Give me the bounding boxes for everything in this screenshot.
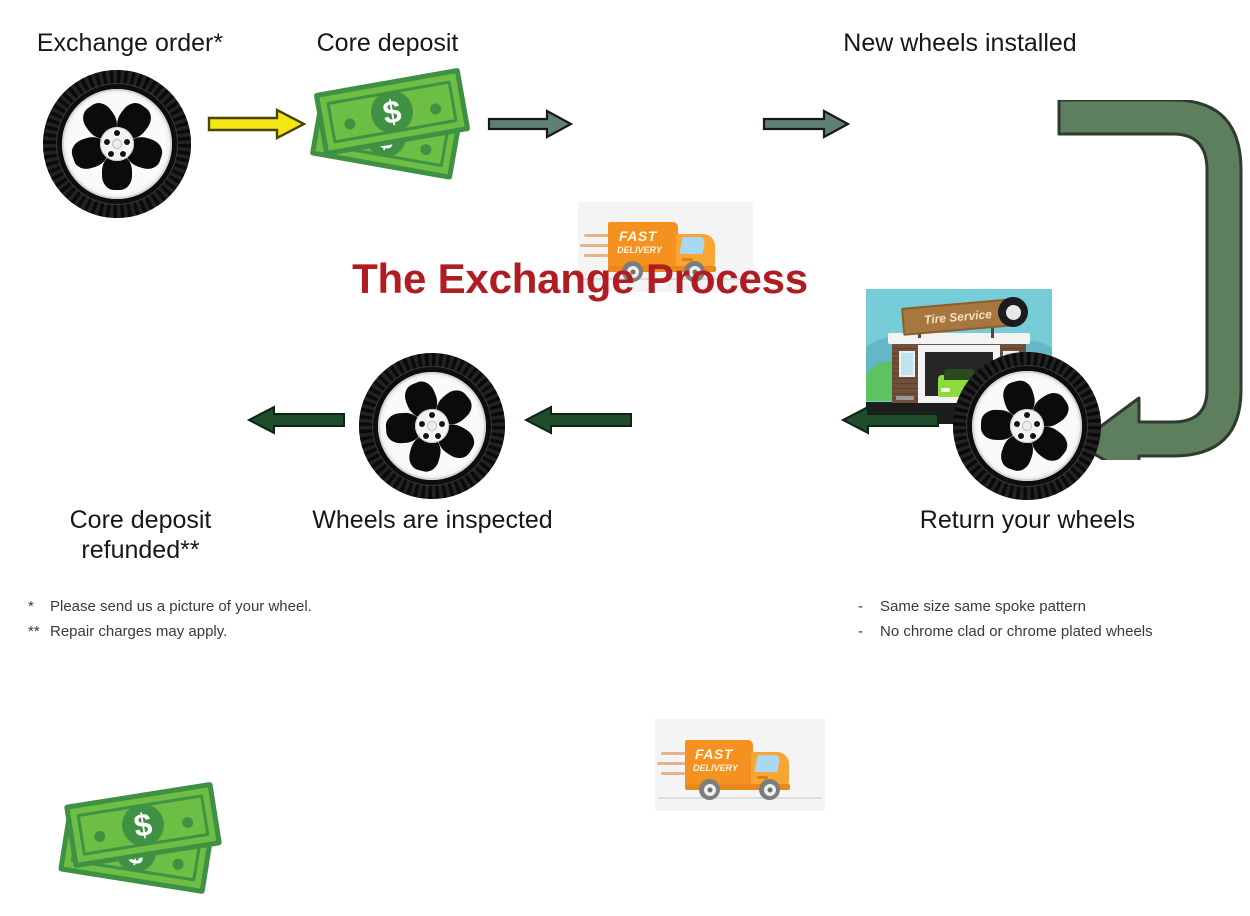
footnotes-left: *Please send us a picture of your wheel.… [28, 594, 312, 644]
label-new-wheels-installed: New wheels installed [805, 28, 1115, 58]
label-wheels-are-inspected: Wheels are inspected [290, 505, 575, 535]
label-core-deposit: Core deposit [285, 28, 490, 58]
footnote-left-1: *Please send us a picture of your wheel. [28, 594, 312, 619]
footnote-left-2: **Repair charges may apply. [28, 619, 312, 644]
footnote-mark: - [858, 619, 880, 644]
wheel-icon-return-your-wheels [953, 352, 1101, 500]
exchange-process-diagram: Exchange order* Core deposit New wheels … [0, 0, 1250, 666]
wheel-icon-exchange-order [43, 70, 191, 218]
footnotes-right: -Same size same spoke pattern -No chrome… [858, 594, 1153, 644]
arrow-inspection-to-refund [246, 405, 346, 435]
label-core-deposit-refunded-line2: refunded** [28, 535, 253, 565]
money-icon-core-deposit-refunded: $ $ [58, 791, 233, 916]
label-return-your-wheels: Return your wheels [880, 505, 1175, 535]
footnote-text: Same size same spoke pattern [880, 598, 1086, 615]
garage-sign-text: Tire Service [924, 307, 993, 327]
page-title: The Exchange Process [325, 255, 835, 303]
footnote-mark: - [858, 594, 880, 619]
label-core-deposit-refunded-line1: Core deposit [28, 505, 253, 535]
arrow-return-to-transit [840, 405, 940, 435]
footnote-mark: ** [28, 619, 50, 644]
footnote-text: Repair charges may apply. [50, 623, 227, 640]
arrow-yellow-order-to-deposit [207, 108, 307, 140]
footnote-text: Please send us a picture of your wheel. [50, 598, 312, 615]
money-icon-core-deposit: $ $ [310, 78, 480, 200]
arrow-deposit-to-shipping [487, 108, 573, 140]
delivery-truck-icon-return: FAST DELIVERY [655, 719, 825, 811]
wheel-icon-wheels-are-inspected [359, 353, 505, 499]
label-exchange-order: Exchange order* [0, 28, 260, 58]
footnote-text: No chrome clad or chrome plated wheels [880, 623, 1153, 640]
arrow-shipping-to-install [762, 108, 850, 140]
footnote-mark: * [28, 594, 50, 619]
arrow-transit-to-inspection [523, 405, 633, 435]
footnote-right-1: -Same size same spoke pattern [858, 594, 1153, 619]
footnote-right-2: -No chrome clad or chrome plated wheels [858, 619, 1153, 644]
